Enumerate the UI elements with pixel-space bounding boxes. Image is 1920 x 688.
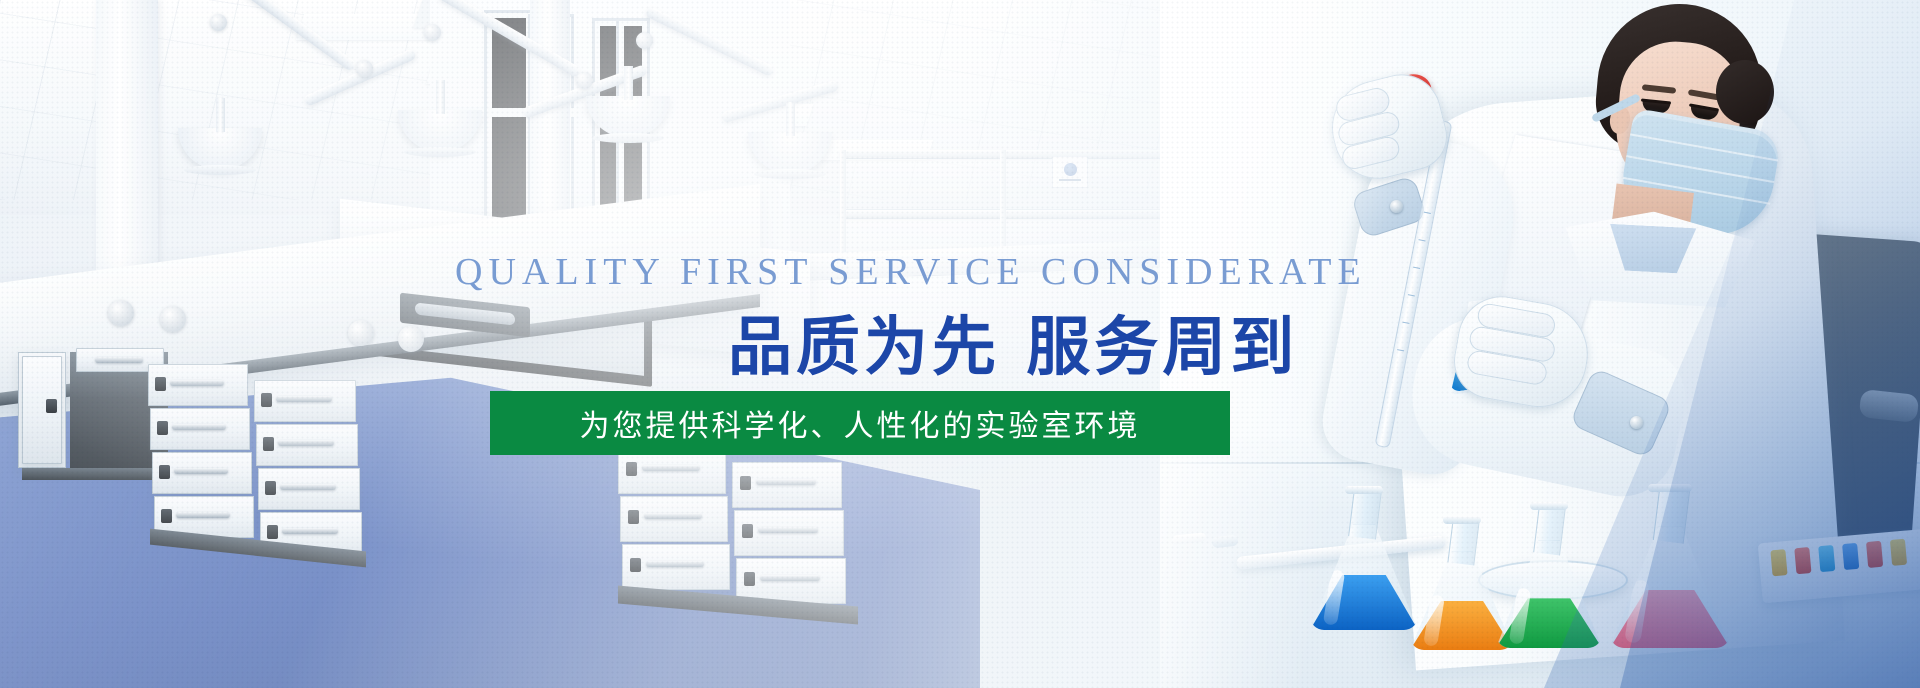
arm-joint <box>356 60 373 77</box>
suspended-lamp <box>586 96 670 138</box>
drawer-lock-icon <box>265 481 276 495</box>
drawer <box>148 364 248 406</box>
bench-valve-knob <box>160 306 186 332</box>
drawer-handle <box>172 424 226 430</box>
arm-joint <box>210 14 227 31</box>
lamp-shade <box>586 96 670 138</box>
drawer-handle <box>756 479 815 485</box>
structural-column <box>96 0 158 270</box>
lamp-stem <box>436 80 445 114</box>
drawer-handle <box>280 484 335 490</box>
arm-joint <box>424 24 441 41</box>
drawer <box>620 496 728 542</box>
drawer-handle <box>646 561 704 567</box>
equipment-logo-badge <box>1052 156 1088 188</box>
drawer-handle <box>174 468 228 474</box>
bench-valve-knob <box>108 300 134 326</box>
suspended-lamp <box>398 110 482 152</box>
english-tagline: QUALITY FIRST SERVICE CONSIDERATE <box>455 250 1367 294</box>
drawer-lock-icon <box>744 572 755 586</box>
drawer-lock-icon <box>159 465 170 479</box>
drawer-handle <box>644 513 702 519</box>
drawer-handle <box>642 465 700 471</box>
drawer-handle <box>758 527 817 533</box>
drawer <box>258 468 360 510</box>
drawer <box>256 424 358 466</box>
drawer-lock-icon <box>630 558 641 572</box>
drawer-handle <box>176 512 230 518</box>
lamp-stem <box>786 102 795 136</box>
shelf-glass <box>844 158 1168 210</box>
suspended-lamp <box>748 132 832 174</box>
window <box>492 18 526 218</box>
drawer-handle <box>760 575 819 581</box>
cabinet-lock-icon <box>46 399 57 413</box>
lamp-shade <box>178 128 262 170</box>
drawer-lock-icon <box>157 421 168 435</box>
bench-valve-knob <box>398 326 424 352</box>
drawer-lock-icon <box>267 525 278 539</box>
drawer <box>254 380 356 422</box>
drawer-lock-icon <box>155 377 166 391</box>
structural-column <box>530 0 570 245</box>
drawer-lock-icon <box>263 437 274 451</box>
drawer-lock-icon <box>742 524 753 538</box>
subheadline-green-bar: 为您提供科学化、人性化的实验室环境 <box>490 391 1230 455</box>
arm-joint <box>636 32 653 49</box>
drawer <box>152 452 252 494</box>
drawer-lock-icon <box>161 509 172 523</box>
drawer <box>734 510 844 556</box>
drawer-lock-icon <box>626 462 637 476</box>
logo-dot-icon <box>1064 163 1077 176</box>
bench-valve-knob <box>348 320 374 346</box>
drawer-handle <box>282 528 337 534</box>
cabinet-door <box>22 356 62 464</box>
drawer-handle <box>278 440 333 446</box>
headline-chinese: 品质为先 服务周到 <box>728 296 1298 388</box>
lamp-shade <box>398 110 482 152</box>
drawer-handle <box>276 396 331 402</box>
drawer-lock-icon <box>261 393 272 407</box>
arm-joint <box>576 72 593 89</box>
drawer <box>150 408 250 450</box>
cabinet-kick-plate <box>22 468 172 480</box>
lamp-stem <box>624 66 633 100</box>
drawer-lock-icon <box>628 510 639 524</box>
drawer <box>732 462 842 508</box>
drawer-handle <box>170 380 224 386</box>
suspended-lamp <box>178 128 262 170</box>
subheadline-chinese: 为您提供科学化、人性化的实验室环境 <box>580 401 1141 445</box>
drawer-handle <box>95 357 143 363</box>
lamp-shade <box>748 132 832 174</box>
lamp-stem <box>216 98 225 132</box>
logo-bar <box>1059 179 1081 181</box>
drawer <box>622 544 730 590</box>
drawer-lock-icon <box>740 476 751 490</box>
hero-banner: QUALITY FIRST SERVICE CONSIDERATE 品质为先 服… <box>0 0 1920 688</box>
